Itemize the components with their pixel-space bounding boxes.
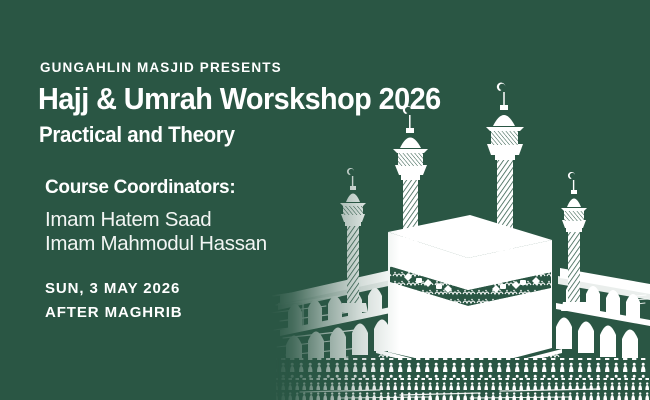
- presenter-line: GUNGAHLIN MASJID PRESENTS: [40, 60, 282, 75]
- event-date: SUN, 3 MAY 2026: [45, 281, 180, 296]
- coordinator-name: Imam Mahmodul Hassan: [45, 234, 267, 255]
- page-title: Hajj & Umrah Worskshop 2026: [38, 83, 441, 114]
- coordinators-heading: Course Coordinators:: [45, 178, 235, 197]
- event-poster: GUNGAHLIN MASJID PRESENTS Hajj & Umrah W…: [0, 0, 650, 400]
- poster-text-block: GUNGAHLIN MASJID PRESENTS Hajj & Umrah W…: [40, 0, 460, 400]
- minaret-far-right: [561, 172, 589, 311]
- page-subtitle: Practical and Theory: [39, 124, 235, 146]
- coordinator-name: Imam Hatem Saad: [45, 210, 211, 231]
- minaret-right-tall: [486, 83, 524, 297]
- event-time: AFTER MAGHRIB: [45, 305, 183, 320]
